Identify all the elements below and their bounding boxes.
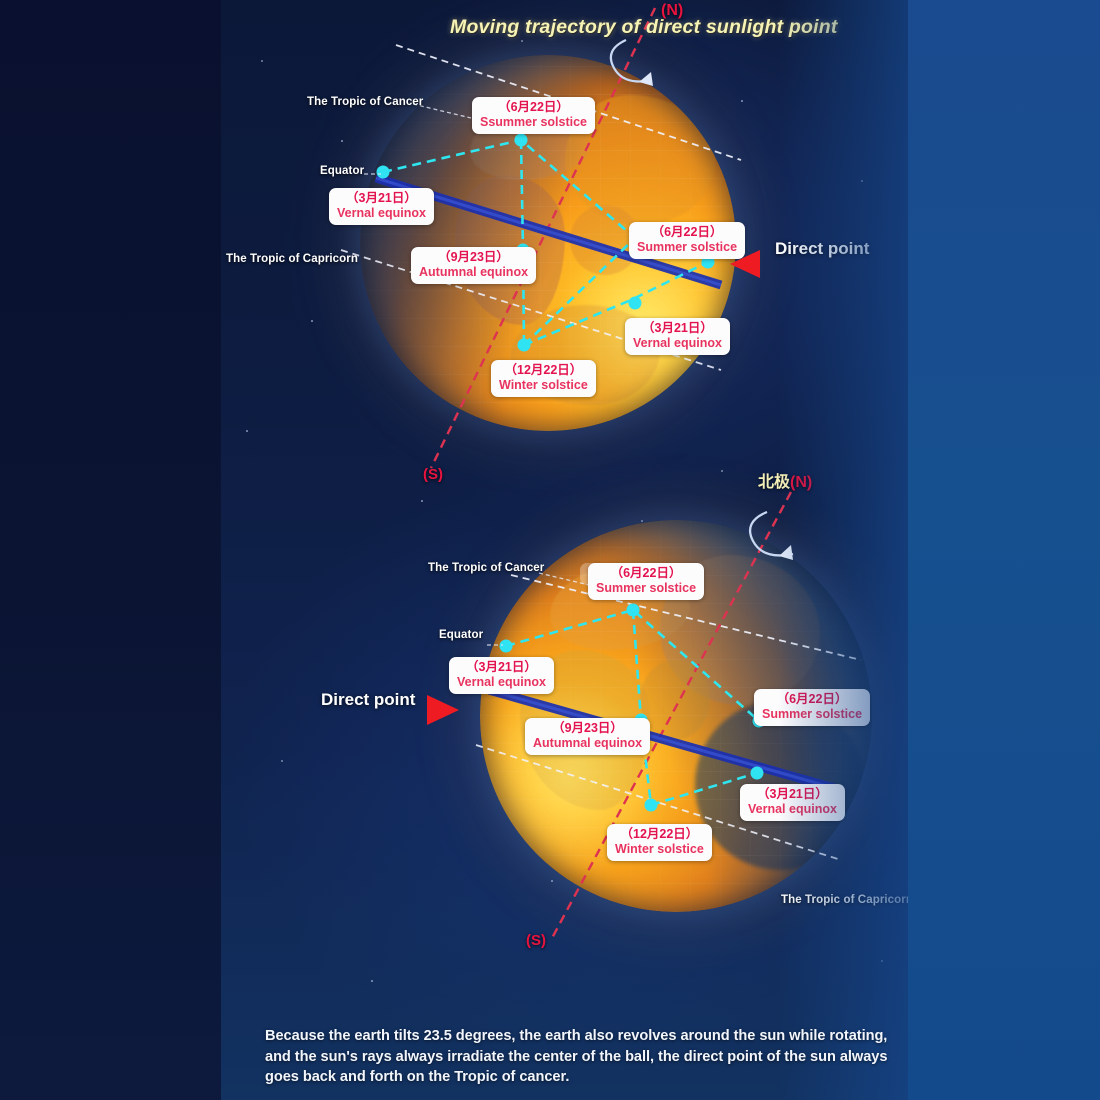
- marker-chip-vernal-equinox-left-bottom[interactable]: （3月21日） Vernal equinox: [449, 657, 554, 694]
- chip-name: Winter solstice: [615, 842, 704, 857]
- south-pole-text-bottom: (S): [526, 932, 546, 949]
- marker-chip-autumnal-equinox-bottom[interactable]: （9月23日） Autumnal equinox: [525, 718, 650, 755]
- chip-name: Winter solstice: [499, 378, 588, 393]
- marker-chip-vernal-equinox-right-top[interactable]: （3月21日） Vernal equinox: [625, 318, 730, 355]
- tropic-of-cancer-label-top: The Tropic of Cancer: [307, 96, 423, 108]
- south-pole-text-top: (S): [423, 466, 443, 483]
- chip-name: Autumnal equinox: [533, 736, 642, 751]
- node-vernal-right-top: [629, 297, 642, 310]
- marker-chip-vernal-equinox-left-top[interactable]: （3月21日） Vernal equinox: [329, 188, 434, 225]
- chip-name: Vernal equinox: [337, 206, 426, 221]
- equator-label-bottom: Equator: [439, 629, 483, 641]
- chip-date: （9月23日）: [419, 250, 528, 265]
- chip-name: Autumnal equinox: [419, 265, 528, 280]
- chip-date: （3月21日）: [457, 660, 546, 675]
- trajectory-meridian-top: [521, 140, 524, 345]
- panel-right-glow: [778, 0, 908, 1100]
- main-panel: Moving trajectory of direct sunlight poi…: [221, 0, 908, 1100]
- chip-date: （9月23日）: [533, 721, 642, 736]
- spin-arrow-top: [611, 40, 652, 82]
- spin-arrowhead-top: [639, 72, 653, 86]
- north-pole-text-top: (N): [661, 2, 683, 19]
- tropic-of-cancer-label-bottom: The Tropic of Cancer: [428, 562, 544, 574]
- chip-name: Vernal equinox: [633, 336, 722, 351]
- node-winter-bottom: [645, 799, 658, 812]
- footer-caption: Because the earth tilts 23.5 degrees, th…: [265, 1026, 895, 1088]
- node-vernal-left-top: [377, 166, 390, 179]
- marker-chip-winter-solstice-top[interactable]: （12月22日） Winter solstice: [491, 360, 596, 397]
- chip-name: Ssummer solstice: [480, 115, 587, 130]
- node-winter-top: [518, 339, 531, 352]
- right-background-band: [908, 0, 1100, 1100]
- chip-date: （6月22日）: [596, 566, 696, 581]
- chip-date: （3月21日）: [633, 321, 722, 336]
- direct-point-arrowhead-bottom: [427, 695, 459, 725]
- node-vernal-right-bottom: [751, 767, 764, 780]
- chip-name: Vernal equinox: [457, 675, 546, 690]
- direct-point-label-bottom: Direct point: [321, 690, 415, 710]
- chip-name: Summer solstice: [637, 240, 737, 255]
- equator-label-top: Equator: [320, 165, 364, 177]
- marker-chip-summer-solstice-left-top[interactable]: （6月22日） Ssummer solstice: [472, 97, 595, 134]
- marker-chip-winter-solstice-bottom[interactable]: （12月22日） Winter solstice: [607, 824, 712, 861]
- chip-date: （6月22日）: [480, 100, 587, 115]
- tropic-of-capricorn-label-top: The Tropic of Capricorn: [226, 253, 358, 265]
- chip-date: （3月21日）: [337, 191, 426, 206]
- left-background-band: [0, 0, 221, 1100]
- south-pole-label-bottom: (S): [526, 932, 546, 949]
- chip-date: （12月22日）: [615, 827, 704, 842]
- node-summer-left-bottom: [627, 604, 640, 617]
- chip-date: （6月22日）: [637, 225, 737, 240]
- chip-name: Summer solstice: [596, 581, 696, 596]
- node-vernal-left-bottom: [500, 640, 513, 653]
- south-pole-label-top: (S): [423, 466, 443, 483]
- node-summer-left-top: [515, 134, 528, 147]
- infographic-root: Moving trajectory of direct sunlight poi…: [0, 0, 1100, 1100]
- chip-date: （12月22日）: [499, 363, 588, 378]
- marker-chip-autumnal-equinox-top[interactable]: （9月23日） Autumnal equinox: [411, 247, 536, 284]
- trajectory-meridian-bottom: [633, 610, 651, 805]
- marker-chip-summer-solstice-right-top[interactable]: （6月22日） Summer solstice: [629, 222, 745, 259]
- marker-chip-summer-solstice-left-bottom[interactable]: （6月22日） Summer solstice: [588, 563, 704, 600]
- north-pole-label-top: (N): [661, 2, 683, 20]
